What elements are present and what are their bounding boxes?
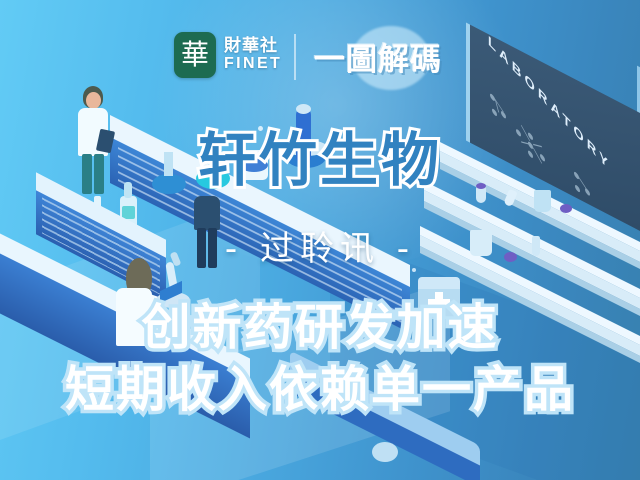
company-title: 轩竹生物: [0, 131, 640, 189]
header-divider: [294, 34, 296, 80]
reagent-column-cap: [296, 104, 311, 114]
header-bar: 華 財華社 FINET 一圖解碼: [0, 30, 640, 88]
series-badge-label: 一圖解碼: [314, 34, 442, 79]
status-subtitle: - 过聆讯 -: [0, 232, 640, 266]
brand-logo[interactable]: 華 財華社 FINET: [174, 32, 282, 78]
headline-line1: 创新药研发加速: [0, 303, 640, 352]
shelf-sample-1: [560, 204, 572, 213]
foreground-tray-knob: [372, 442, 398, 462]
scientist-head: [86, 92, 101, 109]
poster-canvas: LABORATORY: [0, 0, 640, 480]
brand-logo-text: 財華社 FINET: [224, 38, 282, 72]
first-aid-kit-lid: [418, 277, 460, 289]
brand-name-en: FINET: [224, 56, 282, 73]
finet-logo-icon: 華: [174, 32, 216, 78]
shelf-beaker-1: [534, 190, 551, 212]
series-badge: 一圖解碼: [310, 28, 490, 90]
headline-line2: 短期收入依赖单一产品: [0, 365, 640, 414]
brand-name-cn: 財華社: [224, 38, 282, 56]
scientist3-coat: [194, 196, 220, 230]
